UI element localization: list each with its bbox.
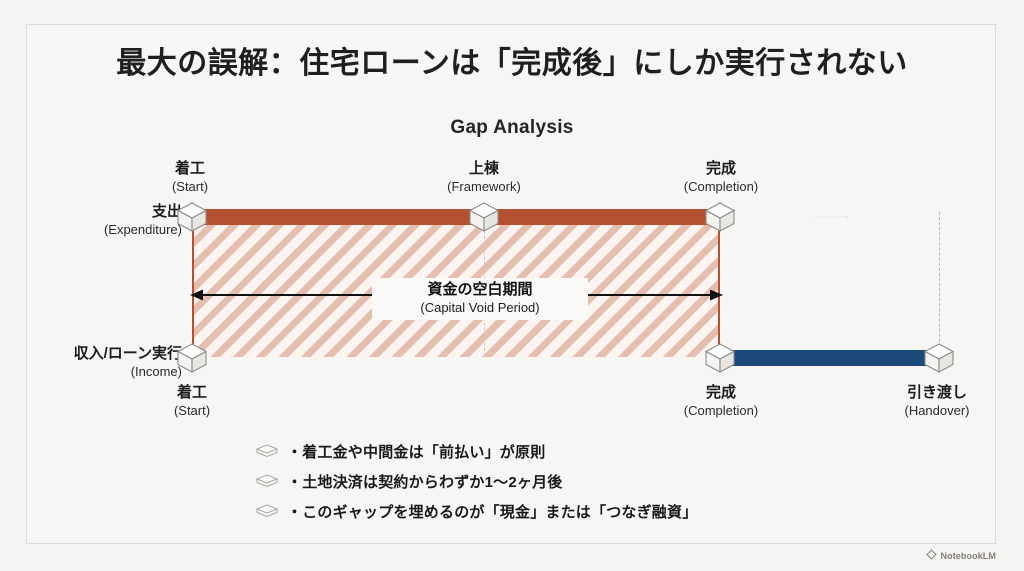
cube-marker-handover bbox=[922, 341, 956, 375]
list-item-text: ・土地決済は契約からわずか1〜2ヶ月後 bbox=[287, 471, 563, 492]
milestone-label-jp: 着工 bbox=[140, 160, 240, 179]
milestone-label-en: (Completion) bbox=[651, 179, 791, 195]
notebooklm-watermark: NotebookLM bbox=[926, 547, 997, 565]
axis-label-en: (Expenditure) bbox=[18, 222, 182, 238]
bar-expenditure bbox=[190, 209, 723, 225]
watermark-label: NotebookLM bbox=[941, 551, 997, 561]
list-item: ・土地決済は契約からわずか1〜2ヶ月後 bbox=[255, 466, 855, 496]
stack-icon bbox=[255, 502, 281, 520]
milestone-top-framework: 上棟 (Framework) bbox=[419, 160, 549, 195]
axis-label-jp: 支出 bbox=[18, 203, 182, 222]
milestone-label-jp: 上棟 bbox=[419, 160, 549, 179]
axis-label-expenditure: 支出 (Expenditure) bbox=[18, 203, 182, 238]
axis-label-income: 収入/ローン実行 (Income) bbox=[8, 345, 182, 380]
milestone-label-jp: 着工 bbox=[142, 384, 242, 403]
milestone-bottom-handover: 引き渡し (Handover) bbox=[871, 384, 1003, 419]
milestone-label-en: (Start) bbox=[140, 179, 240, 195]
milestone-top-completion: 完成 (Completion) bbox=[651, 160, 791, 195]
capital-void-caption-jp: 資金の空白期間 bbox=[378, 281, 582, 300]
handover-guideline bbox=[939, 212, 941, 357]
cube-marker-framework bbox=[467, 200, 501, 234]
stack-icon bbox=[255, 442, 281, 460]
milestone-bottom-completion: 完成 (Completion) bbox=[651, 384, 791, 419]
expenditure-trailing-arrow bbox=[730, 216, 935, 218]
milestone-label-jp: 完成 bbox=[651, 160, 791, 179]
milestone-bottom-start: 着工 (Start) bbox=[142, 384, 242, 419]
notebooklm-logo-icon bbox=[926, 547, 937, 565]
list-item: ・このギャップを埋めるのが「現金」または「つなぎ融資」 bbox=[255, 496, 855, 526]
milestone-label-en: (Start) bbox=[142, 403, 242, 419]
cube-marker-start-expenditure bbox=[175, 200, 209, 234]
stack-icon bbox=[255, 472, 281, 490]
milestone-label-en: (Handover) bbox=[871, 403, 1003, 419]
capital-void-caption: 資金の空白期間 (Capital Void Period) bbox=[372, 278, 588, 320]
cube-marker-start-income bbox=[175, 341, 209, 375]
list-item: ・着工金や中間金は「前払い」が原則 bbox=[255, 436, 855, 466]
milestone-label-en: (Framework) bbox=[419, 179, 549, 195]
bar-income bbox=[718, 350, 942, 366]
axis-label-en: (Income) bbox=[8, 364, 182, 380]
key-points-list: ・着工金や中間金は「前払い」が原則 ・土地決済は契約からわずか1〜2ヶ月後 bbox=[255, 436, 855, 526]
list-item-text: ・着工金や中間金は「前払い」が原則 bbox=[287, 441, 545, 462]
milestone-label-jp: 引き渡し bbox=[871, 384, 1003, 403]
cube-marker-completion-income bbox=[703, 341, 737, 375]
cube-marker-completion-expenditure bbox=[703, 200, 737, 234]
milestone-label-jp: 完成 bbox=[651, 384, 791, 403]
milestone-top-start: 着工 (Start) bbox=[140, 160, 240, 195]
slide-canvas: 最大の誤解：住宅ローンは「完成後」にしか実行されない Gap Analysis … bbox=[0, 0, 1024, 571]
milestone-label-en: (Completion) bbox=[651, 403, 791, 419]
capital-void-caption-en: (Capital Void Period) bbox=[378, 300, 582, 316]
axis-label-jp: 収入/ローン実行 bbox=[8, 345, 182, 364]
list-item-text: ・このギャップを埋めるのが「現金」または「つなぎ融資」 bbox=[287, 501, 697, 522]
